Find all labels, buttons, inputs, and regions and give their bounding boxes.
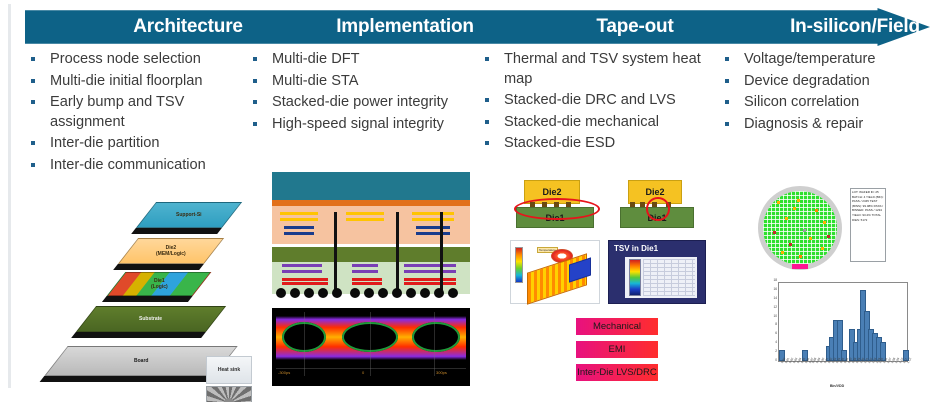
bullet-column-tape-out: Thermal and TSV system heat map Stacked-… xyxy=(478,50,710,156)
list-item-label: High-speed signal integrity xyxy=(272,116,444,132)
heat-sink-box: Heat sink xyxy=(206,356,252,384)
bullet-square-icon xyxy=(485,141,489,145)
list-item: Multi-die DFT xyxy=(246,50,474,70)
thermal-colorbar xyxy=(515,247,523,283)
histogram-x-axis: 0.800.810.820.830.840.850.860.870.880.89… xyxy=(778,362,908,380)
failing-die xyxy=(799,255,802,258)
list-item-label: Multi-die STA xyxy=(272,73,359,89)
list-item: Stacked-die mechanical xyxy=(478,113,710,133)
bullet-list: Voltage/temperature Device degradation S… xyxy=(718,50,928,134)
list-item: Voltage/temperature xyxy=(718,50,928,70)
eye-axis-tick: 0 xyxy=(362,370,364,375)
phase-arrow-banner: Architecture Implementation Tape-out In-… xyxy=(25,8,930,46)
histogram-y-tick: 4 xyxy=(775,340,777,344)
list-item: Silicon correlation xyxy=(718,93,928,113)
die-stack-figure-left: Die2 Die1 xyxy=(512,180,602,226)
eye-axis-tick: 300ps xyxy=(436,370,447,375)
list-item-label: Multi-die DFT xyxy=(272,51,360,67)
callout-label: EMI xyxy=(609,344,626,355)
histogram-y-tick: 6 xyxy=(775,331,777,335)
list-item-label: Silicon correlation xyxy=(744,94,859,110)
list-item-label: Thermal and TSV system heat map xyxy=(504,51,701,87)
histogram-x-title: Bin/VDD xyxy=(762,384,912,388)
eye-plot-area: -300ps 0 300ps xyxy=(276,312,466,376)
list-item: Process node selection xyxy=(24,50,242,70)
callout-label: Inter-Die LVS/DRC xyxy=(577,367,657,378)
bullet-square-icon xyxy=(725,57,729,61)
eye-gridline xyxy=(370,312,371,376)
tsv-via xyxy=(440,212,443,290)
bullet-square-icon xyxy=(253,79,257,83)
failing-die xyxy=(821,247,824,250)
list-item-label: Early bump and TSV assignment xyxy=(50,94,184,130)
heat-sink-label: Heat sink xyxy=(218,367,240,373)
list-item-label: Inter-die communication xyxy=(50,157,206,173)
wafer-stats-table: LOT: WAFER ID: 25 BATCH: 4 YIELD (BIN): … xyxy=(850,188,886,262)
callout-box-emi[interactable]: EMI xyxy=(576,341,658,358)
layer-edge xyxy=(131,228,222,234)
solder-bump xyxy=(378,288,388,298)
bullet-square-icon xyxy=(485,57,489,61)
left-margin-rule xyxy=(8,4,11,388)
list-item: Inter-die partition xyxy=(24,134,242,154)
failing-die xyxy=(793,207,796,210)
eye-diagram-figure: -300ps 0 300ps xyxy=(272,308,470,386)
histogram-plot-area xyxy=(778,282,908,362)
failing-die xyxy=(815,209,818,212)
stack-layer-substrate: Substrate xyxy=(76,306,226,332)
stack-layer-label: Die2 (MEM/Logic) xyxy=(156,245,186,257)
bullet-column-implementation: Multi-die DFT Multi-die STA Stacked-die … xyxy=(246,50,474,136)
bullet-square-icon xyxy=(725,122,729,126)
solder-bump xyxy=(304,288,314,298)
eye-axis-tick: -300ps xyxy=(278,370,290,375)
histogram-y-tick: 8 xyxy=(775,322,777,326)
bullet-square-icon xyxy=(485,98,489,102)
die2-label: Die2 xyxy=(645,187,664,197)
stack-layer-die2: Die2 (MEM/Logic) xyxy=(118,238,224,264)
list-item-label: Diagnosis & repair xyxy=(744,116,863,132)
bullet-column-in-silicon-field: Voltage/temperature Device degradation S… xyxy=(718,50,928,136)
list-item: Multi-die STA xyxy=(246,72,474,92)
failing-die xyxy=(773,231,776,234)
slide-canvas: Architecture Implementation Tape-out In-… xyxy=(0,0,937,402)
layer-face: Substrate xyxy=(76,306,226,332)
tsv-via xyxy=(334,212,337,290)
phase-label-implementation[interactable]: Implementation xyxy=(285,8,525,46)
failing-die xyxy=(823,221,826,224)
wafer-map-figure: LOT: WAFER ID: 25 BATCH: 4 YIELD (BIN): … xyxy=(758,186,888,270)
list-item-label: Stacked-die power integrity xyxy=(272,94,448,110)
bullet-square-icon xyxy=(725,100,729,104)
layer-face: Die1 (Logic) xyxy=(107,272,212,296)
failing-die xyxy=(777,201,780,204)
eye-gridline xyxy=(304,312,305,376)
list-item-label: Voltage/temperature xyxy=(744,51,875,67)
failing-die xyxy=(827,235,830,238)
phase-label-row: Architecture Implementation Tape-out In-… xyxy=(25,8,930,46)
stack-layer-label: Board xyxy=(134,358,148,364)
bullet-list: Process node selection Multi-die initial… xyxy=(24,50,242,175)
bullet-square-icon xyxy=(31,163,35,167)
list-item-label: Stacked-die DRC and LVS xyxy=(504,92,676,108)
phase-label-in-silicon-field[interactable]: In-silicon/Field xyxy=(740,8,937,46)
failing-die xyxy=(809,237,812,240)
list-item: Diagnosis & repair xyxy=(718,115,928,135)
histogram-y-tick: 16 xyxy=(773,287,777,291)
eye-opening xyxy=(412,322,460,352)
solder-bump xyxy=(290,288,300,298)
failing-die xyxy=(781,251,784,254)
failing-die xyxy=(797,199,800,202)
list-item: Early bump and TSV assignment xyxy=(24,93,242,132)
tsv-mesh-grid xyxy=(643,259,695,296)
solder-bump xyxy=(406,288,416,298)
list-item-label: Multi-die initial floorplan xyxy=(50,73,203,89)
stack-layer-die1: Die1 (Logic) xyxy=(107,272,212,296)
solder-bump xyxy=(364,288,374,298)
tsv-plot-area xyxy=(625,257,697,298)
eye-gridline xyxy=(434,312,435,376)
solder-bump xyxy=(332,288,342,298)
layer-face: Die2 (MEM/Logic) xyxy=(118,238,224,264)
failing-die xyxy=(803,229,806,232)
failing-die xyxy=(785,217,788,220)
list-item: Stacked-die DRC and LVS xyxy=(478,91,710,111)
stack-layer-label: Substrate xyxy=(139,316,162,322)
bullet-square-icon xyxy=(253,122,257,126)
solder-bump xyxy=(448,288,458,298)
die-stack-figure-right: Die2 Die1 xyxy=(616,180,700,226)
layer-edge xyxy=(113,264,204,270)
solder-bump xyxy=(392,288,402,298)
list-item: Thermal and TSV system heat map xyxy=(478,50,710,89)
wafer-die-grid xyxy=(763,191,837,265)
stack-layer-label: Die1 (Logic) xyxy=(151,278,168,290)
die2-label: Die2 xyxy=(542,187,561,197)
list-item-label: Device degradation xyxy=(744,73,870,89)
bullet-list: Thermal and TSV system heat map Stacked-… xyxy=(478,50,710,154)
layer-face: Support-Si xyxy=(136,202,242,228)
solder-bump xyxy=(318,288,328,298)
layer-edge xyxy=(102,296,193,302)
histogram-y-tick: 14 xyxy=(773,296,777,300)
bullet-square-icon xyxy=(31,100,35,104)
thermal-heat-map-figure: Temperature xyxy=(510,240,600,304)
highlight-ellipse xyxy=(514,198,600,220)
bullet-square-icon xyxy=(725,79,729,83)
heat-sink-photo-icon xyxy=(206,386,252,402)
solder-bump xyxy=(350,288,360,298)
list-item: Stacked-die ESD xyxy=(478,134,710,154)
solder-bump xyxy=(420,288,430,298)
layer-edge xyxy=(71,332,206,338)
eye-gridline xyxy=(276,368,466,369)
stack-layer-label: Support-Si xyxy=(176,212,202,218)
bullet-square-icon xyxy=(253,100,257,104)
failing-die xyxy=(789,243,792,246)
wafer-die-field xyxy=(763,191,837,265)
histogram-y-axis: 024681012141618 xyxy=(764,282,778,362)
solder-bump xyxy=(434,288,444,298)
architecture-stack-figure: Support-Si Die2 (MEM/Logic) Die1 (Logic)… xyxy=(62,198,282,378)
bullet-square-icon xyxy=(485,120,489,124)
highlight-ellipse xyxy=(646,197,670,221)
phase-label-architecture[interactable]: Architecture xyxy=(78,8,298,46)
phase-label-tape-out[interactable]: Tape-out xyxy=(525,8,745,46)
cross-section-figure xyxy=(272,172,470,300)
solder-bump xyxy=(276,288,286,298)
callout-box-inter-die-lvs-drc[interactable]: Inter-Die LVS/DRC xyxy=(576,364,658,381)
bullet-square-icon xyxy=(31,79,35,83)
list-item: Stacked-die power integrity xyxy=(246,93,474,113)
bullet-square-icon xyxy=(31,141,35,145)
histogram-y-tick: 0 xyxy=(775,358,777,362)
tsv-panel-title: TSV in Die1 xyxy=(614,244,658,253)
tsv-in-die1-figure: TSV in Die1 xyxy=(608,240,706,304)
bullet-column-architecture: Process node selection Multi-die initial… xyxy=(24,50,242,177)
bullet-square-icon xyxy=(253,57,257,61)
list-item-label: Stacked-die ESD xyxy=(504,135,615,151)
list-item-label: Process node selection xyxy=(50,51,201,67)
list-item: High-speed signal integrity xyxy=(246,115,474,135)
layer-edge xyxy=(40,376,215,382)
histogram-figure: 024681012141618 0.800.810.820.830.840.85… xyxy=(762,278,912,388)
list-item: Inter-die communication xyxy=(24,156,242,176)
list-item-label: Stacked-die mechanical xyxy=(504,114,659,130)
tsv-via xyxy=(396,212,399,290)
callout-box-mechanical[interactable]: Mechanical xyxy=(576,318,658,335)
tsv-colorbar xyxy=(629,259,641,296)
stack-layer-support-si: Support-Si xyxy=(136,202,242,228)
list-item: Device degradation xyxy=(718,72,928,92)
list-item: Multi-die initial floorplan xyxy=(24,72,242,92)
histogram-y-tick: 2 xyxy=(775,349,777,353)
layer-support-silicon xyxy=(272,172,470,200)
histogram-y-tick: 18 xyxy=(773,278,777,282)
callout-label: Mechanical xyxy=(593,321,641,332)
wafer-notch-marker xyxy=(792,264,808,269)
bullet-list: Multi-die DFT Multi-die STA Stacked-die … xyxy=(246,50,474,134)
histogram-x-tick: 1.12 xyxy=(906,357,912,364)
histogram-y-tick: 12 xyxy=(773,305,777,309)
list-item-label: Inter-die partition xyxy=(50,135,160,151)
histogram-y-tick: 10 xyxy=(773,314,777,318)
bullet-square-icon xyxy=(31,57,35,61)
